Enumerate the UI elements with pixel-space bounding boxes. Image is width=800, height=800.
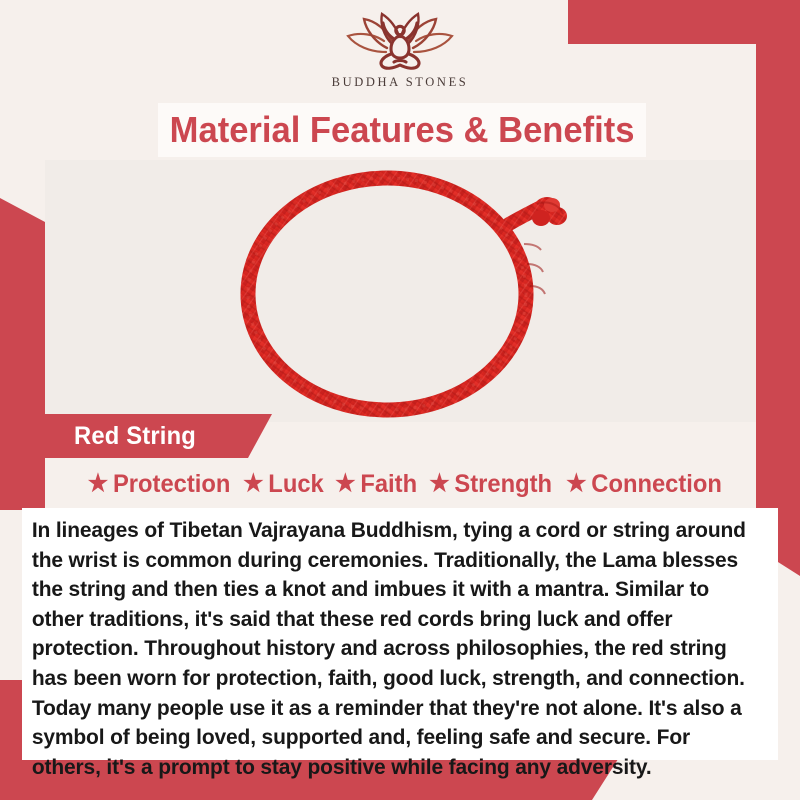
section-ribbon: Red String [22,414,272,458]
red-string-bracelet-image [191,160,611,422]
benefit-label: Faith [360,470,417,499]
lotus-meditation-icon [334,8,466,74]
product-image-panel [45,160,756,422]
benefit-item-faith: ★ Faith [335,470,417,499]
description-text: In lineages of Tibetan Vajrayana Buddhis… [22,508,767,782]
benefit-label: Connection [592,470,723,499]
star-icon: ★ [243,472,263,496]
section-ribbon-label: Red String [74,422,196,451]
benefit-item-protection: ★ Protection [87,470,230,499]
infographic-poster: BUDDHA STONES Material Features & Benefi… [0,0,800,800]
benefit-item-connection: ★ Connection [566,470,722,499]
star-icon: ★ [335,472,355,496]
benefit-item-luck: ★ Luck [243,470,324,499]
benefit-label: Protection [113,470,230,499]
benefit-label: Luck [268,470,323,499]
brand-wordmark: BUDDHA STONES [332,75,469,90]
benefit-item-strength: ★ Strength [429,470,552,499]
star-icon: ★ [566,472,586,496]
description-panel: In lineages of Tibetan Vajrayana Buddhis… [22,508,778,760]
page-title-container: Material Features & Benefits [158,103,646,157]
benefit-label: Strength [454,470,552,499]
brand-logo: BUDDHA STONES [0,8,800,100]
star-icon: ★ [87,472,107,496]
star-icon: ★ [429,472,449,496]
page-title: Material Features & Benefits [170,112,635,148]
decor-band-left [0,198,45,510]
benefits-list: ★ Protection ★ Luck ★ Faith ★ Strength ★… [40,464,770,504]
